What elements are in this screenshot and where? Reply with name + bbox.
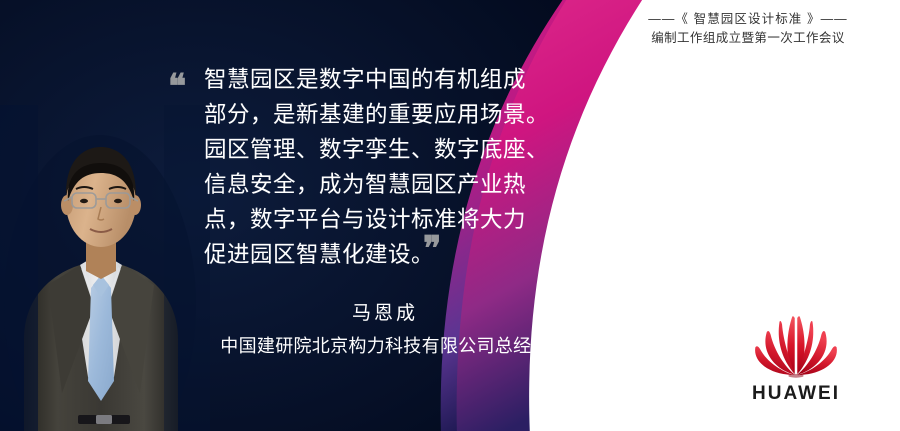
speaker-title: 中国建研院北京构力科技有限公司总经理 xyxy=(190,331,580,362)
attribution-block: 马恩成 中国建研院北京构力科技有限公司总经理 xyxy=(190,300,580,361)
event-header: ——《 智慧园区设计标准 》—— 编制工作组成立暨第一次工作会议 xyxy=(618,10,878,47)
close-quote-icon: ❞ xyxy=(423,232,439,266)
quote-block: ❝ 智慧园区是数字中国的有机组成 部分，是新基建的重要应用场景。 园区管理、数字… xyxy=(168,62,588,272)
open-quote-icon: ❝ xyxy=(168,70,184,104)
slide-canvas: ——《 智慧园区设计标准 》—— 编制工作组成立暨第一次工作会议 ❝ 智慧园区是… xyxy=(0,0,900,431)
speaker-name: 马恩成 xyxy=(190,300,580,329)
huawei-flower-icon xyxy=(744,313,848,379)
quote-text: 智慧园区是数字中国的有机组成 部分，是新基建的重要应用场景。 园区管理、数字孪生… xyxy=(204,62,588,272)
huawei-wordmark: HUAWEI xyxy=(752,383,840,405)
standard-title: ——《 智慧园区设计标准 》—— xyxy=(618,10,878,28)
meeting-subtitle: 编制工作组成立暨第一次工作会议 xyxy=(618,29,878,47)
huawei-logo: HUAWEI xyxy=(730,305,862,405)
